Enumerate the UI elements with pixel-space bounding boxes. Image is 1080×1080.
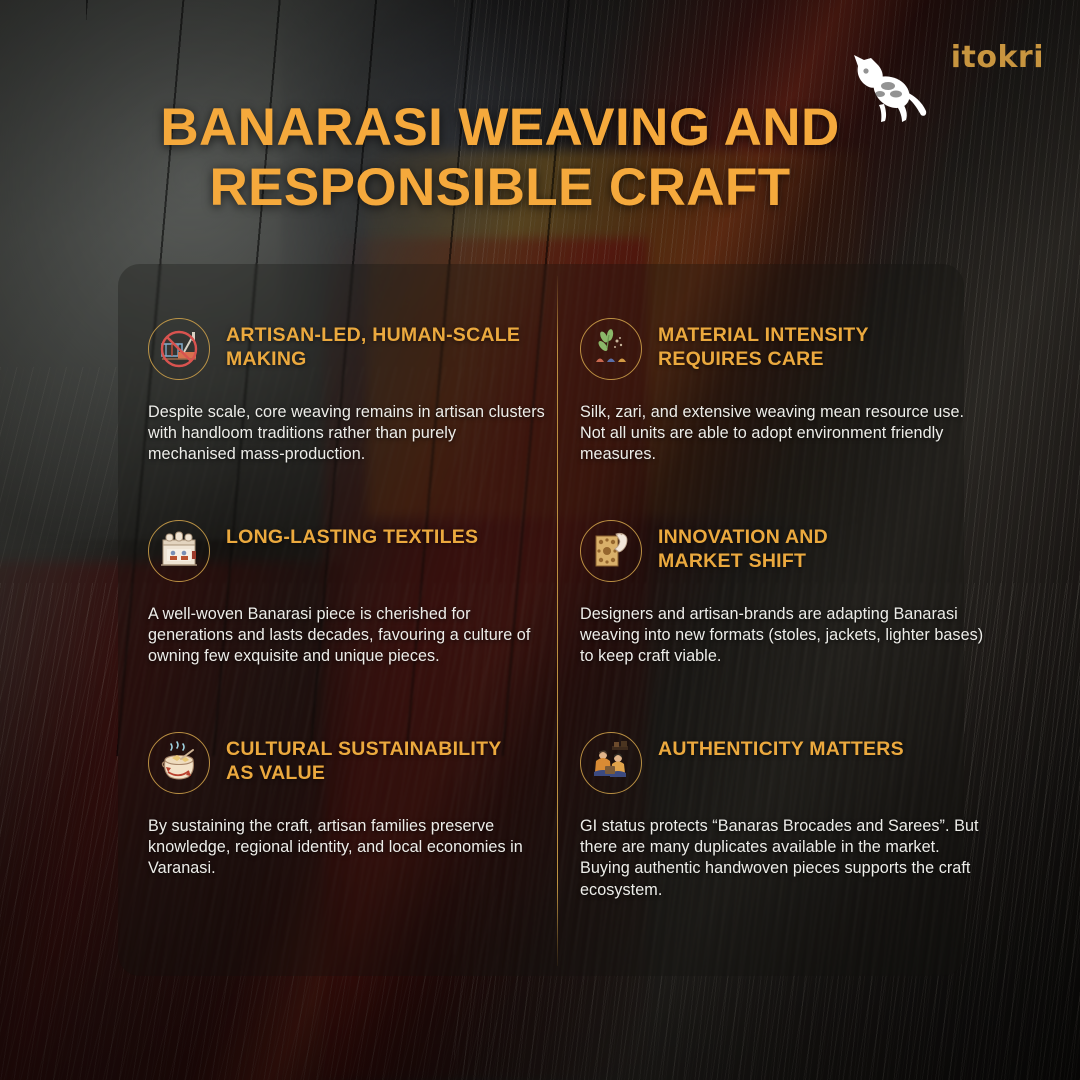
brand-logo[interactable]: itokri [951, 40, 1044, 75]
leaves-and-dye-powder-icon [580, 318, 642, 380]
card-header: ARTISAN-LED, HUMAN-SCALE MAKING [148, 318, 548, 380]
page-title: BANARASI WEAVING AND RESPONSIBLE CRAFT [90, 98, 910, 218]
card-title: CULTURAL SUSTAINABILITY AS VALUE [226, 738, 526, 786]
card-cultural-sustainability: CULTURAL SUSTAINABILITY AS VALUE By sust… [148, 732, 548, 880]
card-title: LONG-LASTING TEXTILES [226, 526, 526, 550]
card-header: LONG-LASTING TEXTILES [148, 520, 548, 582]
card-body: A well-woven Banarasi piece is cherished… [148, 604, 548, 668]
card-body: Designers and artisan-brands are adaptin… [580, 604, 992, 668]
card-body: Silk, zari, and extensive weaving mean r… [580, 402, 992, 466]
card-body: Despite scale, core weaving remains in a… [148, 402, 548, 466]
card-authenticity-matters: AUTHENTICITY MATTERS GI status protects … [580, 732, 980, 901]
steaming-dye-pot-icon [148, 732, 210, 794]
hand-holding-textile-swatch-icon [580, 520, 642, 582]
card-artisan-led: ARTISAN-LED, HUMAN-SCALE MAKING Despite … [148, 318, 548, 466]
cat-icon [844, 52, 930, 131]
column-divider [557, 276, 558, 966]
card-header: CULTURAL SUSTAINABILITY AS VALUE [148, 732, 548, 794]
card-title: MATERIAL INTENSITY REQUIRES CARE [658, 324, 908, 372]
card-material-intensity: MATERIAL INTENSITY REQUIRES CARE Silk, z… [580, 318, 980, 466]
card-title: ARTISAN-LED, HUMAN-SCALE MAKING [226, 324, 526, 372]
card-innovation-market-shift: INNOVATION AND MARKET SHIFT Designers an… [580, 520, 980, 668]
craft-shop-building-icon [148, 520, 210, 582]
card-header: AUTHENTICITY MATTERS [580, 732, 980, 794]
two-seated-artisans-icon [580, 732, 642, 794]
card-body: By sustaining the craft, artisan familie… [148, 816, 548, 880]
card-title: AUTHENTICITY MATTERS [658, 738, 904, 762]
no-machine-loom-icon [148, 318, 210, 380]
card-title: INNOVATION AND MARKET SHIFT [658, 526, 908, 574]
card-header: MATERIAL INTENSITY REQUIRES CARE [580, 318, 980, 380]
card-long-lasting-textiles: LONG-LASTING TEXTILES A well-woven Banar… [148, 520, 548, 668]
card-header: INNOVATION AND MARKET SHIFT [580, 520, 980, 582]
brand-name: itokri [951, 40, 1044, 75]
card-body: GI status protects “Banaras Brocades and… [580, 816, 992, 901]
header: BANARASI WEAVING AND RESPONSIBLE CRAFT i… [0, 0, 1080, 265]
